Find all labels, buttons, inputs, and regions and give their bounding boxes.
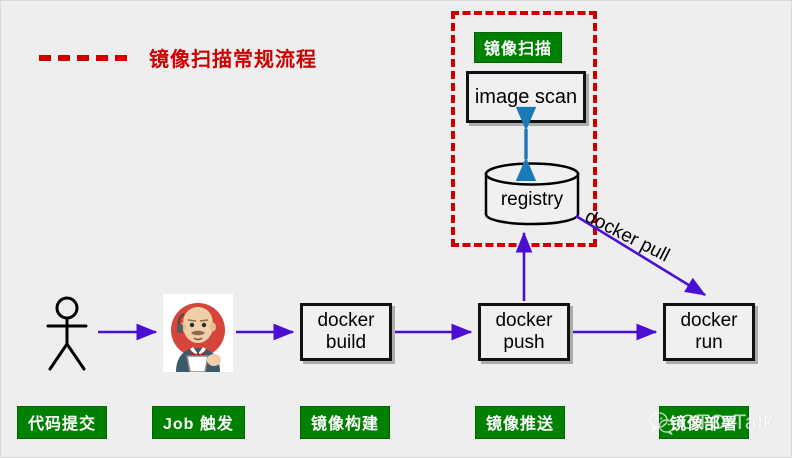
node-docker-run-line1: docker bbox=[680, 310, 737, 332]
stage-tag-image-push: 镜像推送 bbox=[475, 406, 565, 439]
legend-label: 镜像扫描常规流程 bbox=[149, 43, 317, 72]
stick-figure-icon bbox=[39, 296, 95, 374]
stage-tag-image-deploy: 镜像部署 bbox=[659, 406, 749, 439]
jenkins-icon[interactable] bbox=[163, 294, 233, 372]
node-docker-push[interactable]: docker push bbox=[478, 303, 570, 361]
node-image-scan-label: image scan bbox=[475, 86, 577, 109]
legend-dashed-line-icon bbox=[39, 55, 127, 61]
node-docker-run[interactable]: docker run bbox=[663, 303, 755, 361]
stage-tag-job-trigger: Job 触发 bbox=[152, 406, 245, 439]
stage-tag-code-commit: 代码提交 bbox=[17, 406, 107, 439]
node-docker-build-line2: build bbox=[326, 332, 366, 354]
jenkins-butler-icon bbox=[163, 294, 233, 372]
node-docker-push-line2: push bbox=[503, 332, 544, 354]
node-docker-build[interactable]: docker build bbox=[300, 303, 392, 361]
stage-tag-image-build: 镜像构建 bbox=[300, 406, 390, 439]
node-docker-push-line1: docker bbox=[495, 310, 552, 332]
image-scan-group-tag: 镜像扫描 bbox=[474, 32, 562, 63]
legend: 镜像扫描常规流程 bbox=[39, 43, 317, 72]
diagram-canvas: 镜像扫描常规流程 镜像扫描 image scan registry bbox=[0, 0, 792, 458]
actor-user[interactable] bbox=[39, 296, 95, 374]
node-registry[interactable]: registry bbox=[483, 161, 581, 227]
node-image-scan[interactable]: image scan bbox=[466, 71, 586, 123]
node-docker-build-line1: docker bbox=[317, 310, 374, 332]
node-docker-run-line2: run bbox=[695, 332, 722, 354]
node-registry-label: registry bbox=[483, 161, 581, 227]
